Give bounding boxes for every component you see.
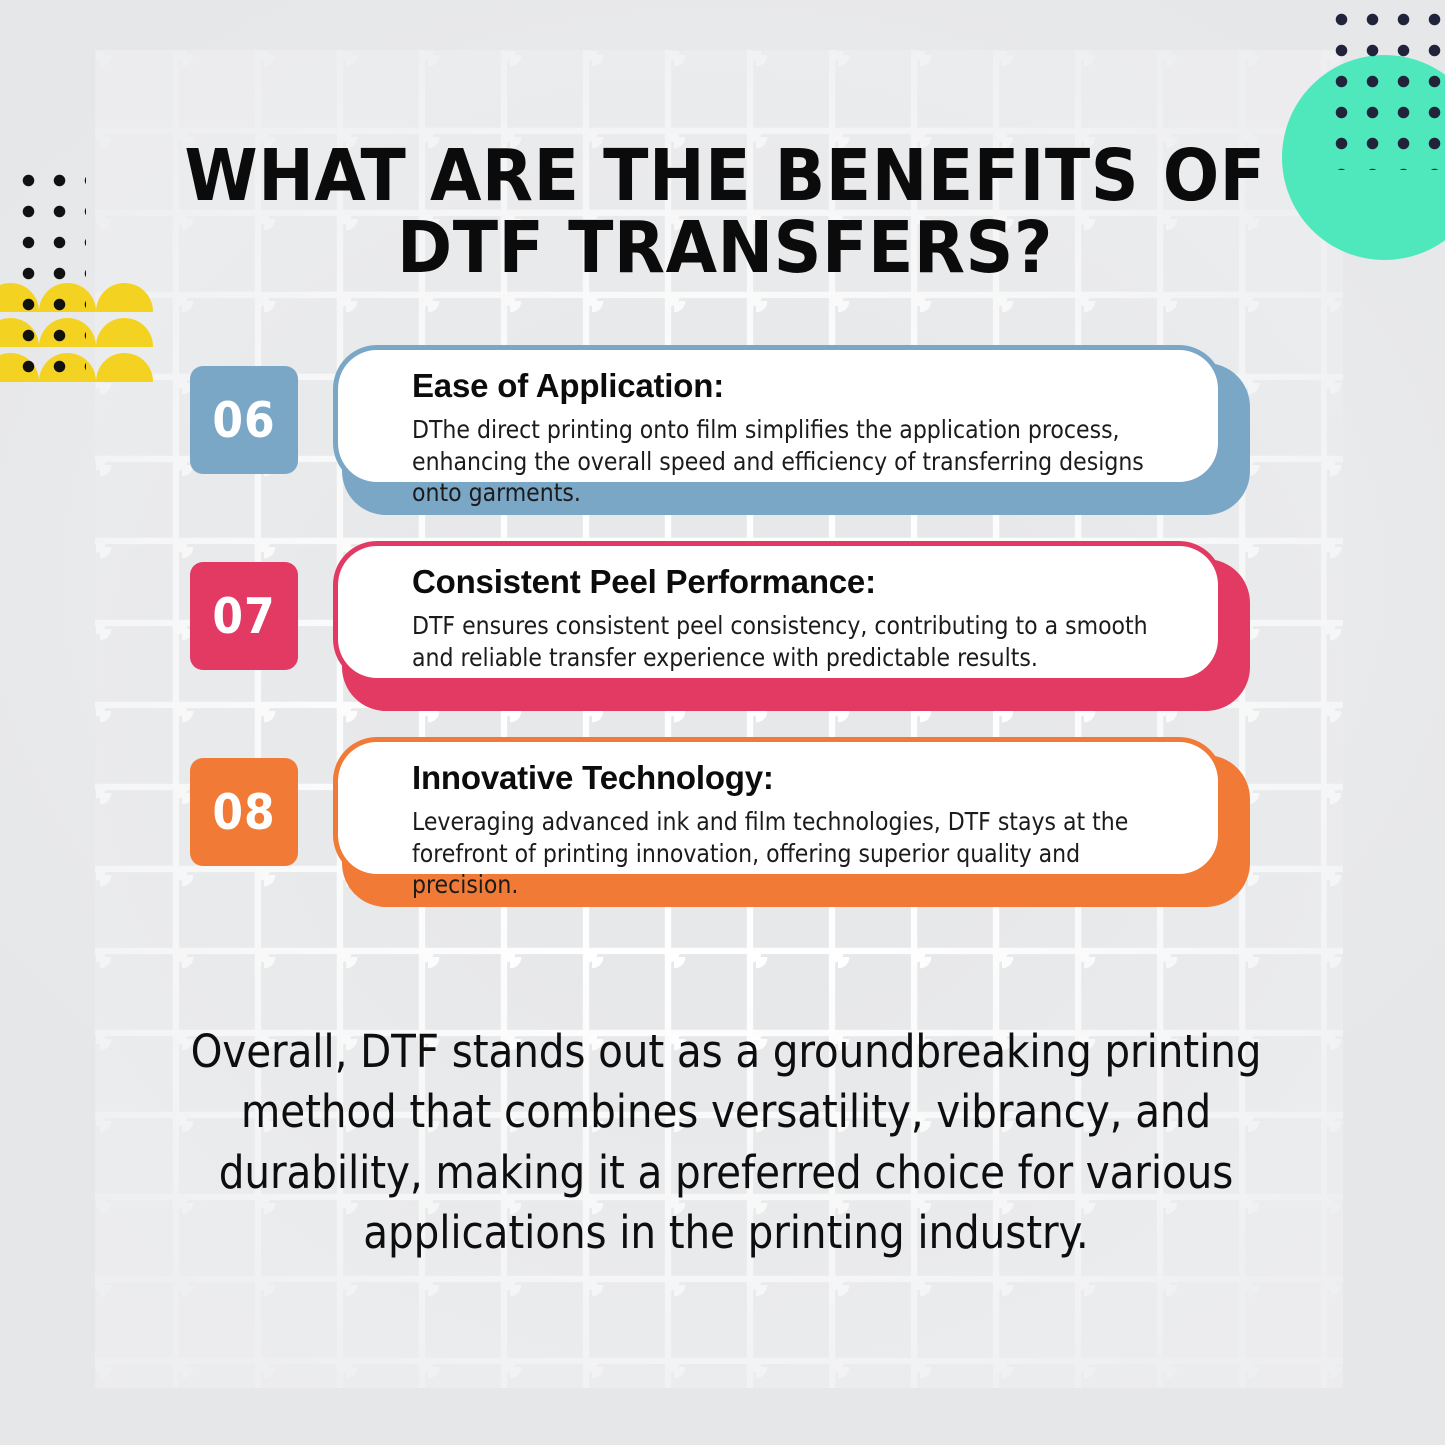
card-shell-08: Innovative Technology: Leveraging advanc… (333, 737, 1250, 907)
card-title-07: Consistent Peel Performance: (412, 564, 1182, 600)
benefit-card-06: 06 Ease of Application: DThe direct prin… (0, 345, 1445, 541)
card-shell-06: Ease of Application: DThe direct printin… (333, 345, 1250, 515)
card-number-label: 08 (212, 784, 275, 841)
card-number-badge-07: 07 (190, 562, 298, 670)
card-body-08: Leveraging advanced ink and film technol… (412, 806, 1182, 900)
infographic-poster: WHAT ARE THE BENEFITS OF DTF TRANSFERS? … (0, 0, 1445, 1445)
card-title-08: Innovative Technology: (412, 760, 1182, 796)
card-number-badge-06: 06 (190, 366, 298, 474)
card-title-06: Ease of Application: (412, 368, 1182, 404)
card-face-08: Innovative Technology: Leveraging advanc… (333, 737, 1223, 879)
benefit-card-07: 07 Consistent Peel Performance: DTF ensu… (0, 541, 1445, 737)
card-body-07: DTF ensures consistent peel consistency,… (412, 610, 1182, 673)
dark-dot-grid-decoration (1322, 0, 1445, 170)
benefits-card-list: 06 Ease of Application: DThe direct prin… (0, 345, 1445, 933)
card-number-label: 06 (212, 392, 275, 449)
card-number-badge-08: 08 (190, 758, 298, 866)
card-face-07: Consistent Peel Performance: DTF ensures… (333, 541, 1223, 683)
closing-paragraph: Overall, DTF stands out as a groundbreak… (176, 1022, 1276, 1263)
card-face-06: Ease of Application: DThe direct printin… (333, 345, 1223, 487)
card-shell-07: Consistent Peel Performance: DTF ensures… (333, 541, 1250, 711)
benefit-card-08: 08 Innovative Technology: Leveraging adv… (0, 737, 1445, 933)
card-number-label: 07 (212, 588, 275, 645)
card-body-06: DThe direct printing onto film simplifie… (412, 414, 1182, 508)
page-title: WHAT ARE THE BENEFITS OF DTF TRANSFERS? (148, 140, 1302, 285)
